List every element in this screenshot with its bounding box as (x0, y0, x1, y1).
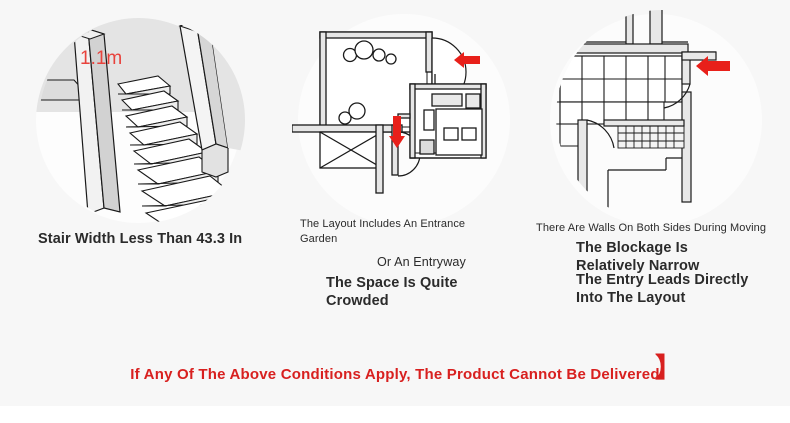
panel-entrance-garden: The Layout Includes An Entrance Garden O… (280, 0, 530, 340)
panel-walls-both-sides: There Are Walls On Both Sides During Mov… (530, 0, 790, 340)
warning-text: If Any Of The Above Conditions Apply, Th… (130, 366, 659, 383)
entrance-garden-floorplan (292, 10, 522, 225)
tiled-corridor-floorplan (538, 8, 784, 223)
warning-bracket-icon: 】 (655, 355, 682, 382)
caption-entrance-line4: The Space Is Quite (326, 275, 458, 291)
caption-walls-line4: The Entry Leads Directly (576, 272, 748, 288)
panel-stair-width: 1.1m Stair Width Less Than 43.3 In (0, 0, 280, 340)
stair-dimension-label: 1.1m (80, 48, 122, 70)
staircase-illustration (30, 12, 250, 227)
caption-entrance-line3: Or An Entryway (377, 255, 466, 269)
caption-entrance-line1: The Layout Includes An Entrance (300, 218, 465, 230)
caption-walls-line5: Into The Layout (576, 290, 685, 306)
infographic-canvas: 1.1m Stair Width Less Than 43.3 In (0, 0, 790, 423)
caption-walls-line2: The Blockage Is (576, 240, 688, 256)
caption-entrance-line2: Garden (300, 233, 337, 245)
caption-entrance-line5: Crowded (326, 293, 389, 309)
caption-walls-line1: There Are Walls On Both Sides During Mov… (536, 222, 766, 234)
caption-stair-width: Stair Width Less Than 43.3 In (38, 231, 242, 247)
